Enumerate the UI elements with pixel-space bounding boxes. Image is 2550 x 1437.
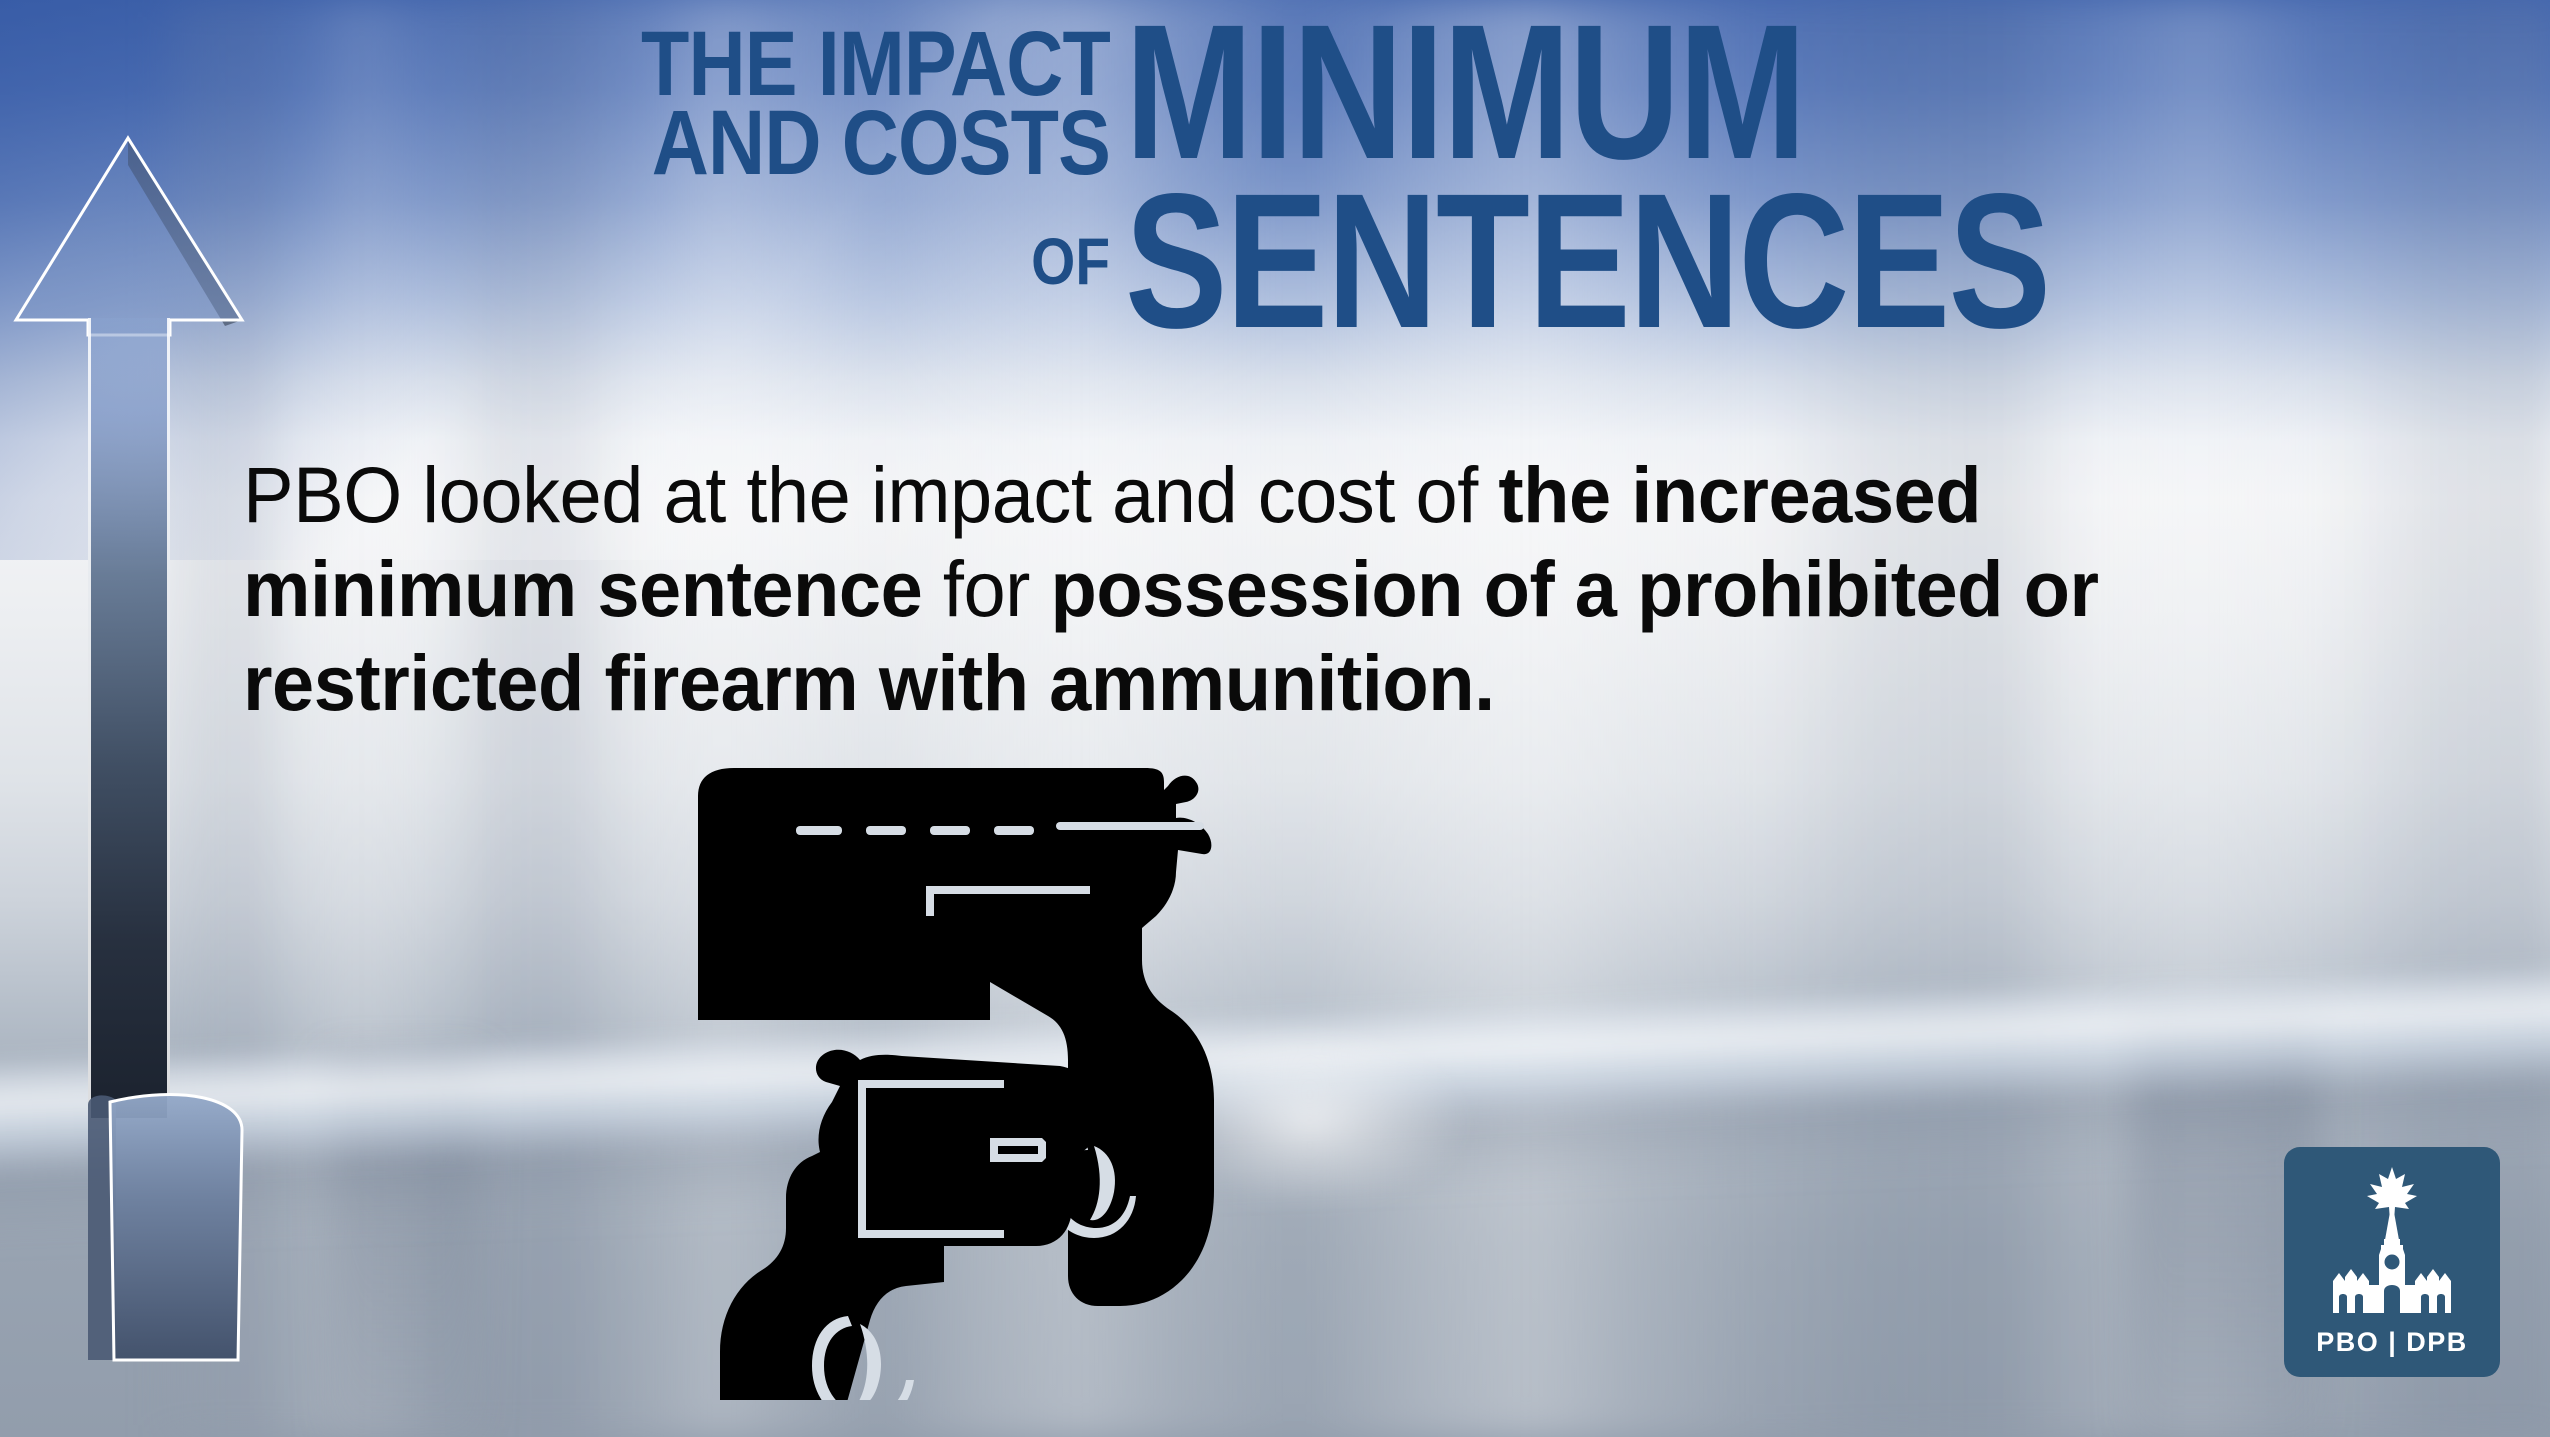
logo-wordmark: PBO | DPB [2316, 1327, 2468, 1358]
body-copy: PBO looked at the impact and cost of the… [243, 448, 2288, 730]
firearm-silhouettes [690, 760, 1870, 1400]
arrow-tail [110, 1095, 242, 1360]
title-secondary: THE IMPACT AND COSTS [474, 25, 1110, 183]
title-primary-line2: SENTENCES [1125, 177, 2049, 346]
body-seg-3: for [922, 544, 1050, 633]
title-of: OF [474, 228, 1110, 294]
peace-tower-icon [2317, 1165, 2467, 1320]
title-primary: MINIMUM SENTENCES [1125, 8, 2049, 346]
title-secondary-line2: AND COSTS [474, 104, 1110, 183]
poster-canvas: THE IMPACT AND COSTS OF MINIMUM SENTENCE… [0, 0, 2550, 1437]
up-arrow-graphic [10, 120, 250, 1410]
arrow-shaft [88, 318, 170, 1118]
pbo-logo: PBO | DPB [2284, 1147, 2500, 1377]
arrow-head [16, 138, 242, 335]
body-seg-1: PBO looked at the impact and cost of [243, 450, 1498, 539]
revolver-snub-nose-silhouette [720, 1050, 1094, 1400]
title-primary-line1: MINIMUM [1125, 8, 2049, 177]
